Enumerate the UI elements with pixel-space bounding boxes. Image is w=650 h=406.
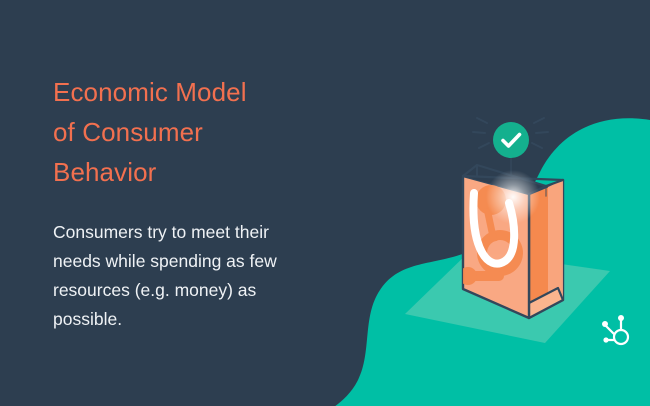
text-column: Economic Model of Consumer Behavior Cons… <box>53 72 343 334</box>
check-badge-circle <box>493 122 529 158</box>
slide-canvas: Economic Model of Consumer Behavior Cons… <box>0 0 650 406</box>
body-paragraph: Consumers try to meet their needs while … <box>53 218 311 334</box>
page-title: Economic Model of Consumer Behavior <box>53 72 343 192</box>
